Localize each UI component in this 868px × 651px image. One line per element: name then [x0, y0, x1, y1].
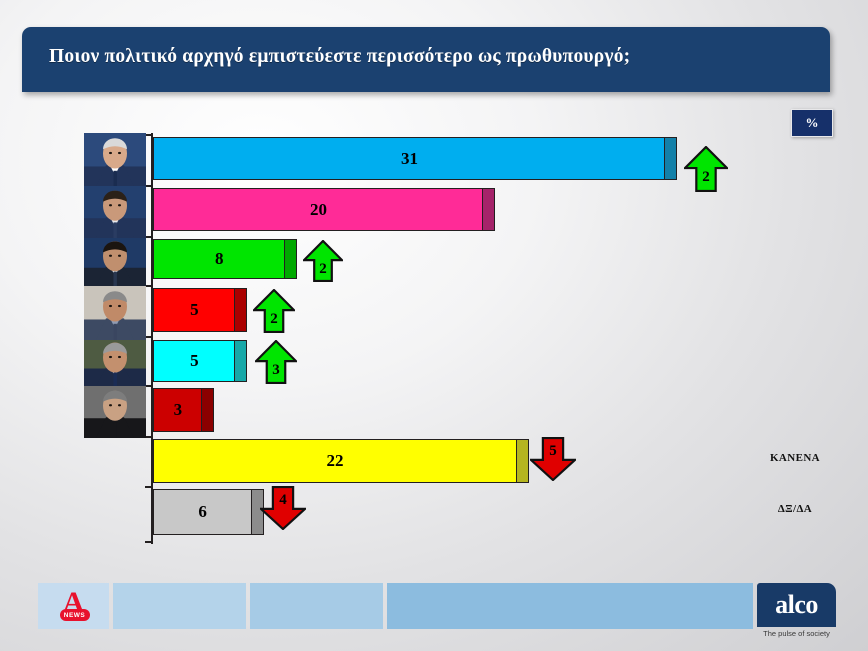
footer-block: [113, 583, 246, 629]
change-value-label: 5: [530, 443, 576, 460]
bar-end-cap: [664, 137, 677, 180]
change-value-label: 3: [255, 362, 297, 379]
bar-row: 8: [153, 239, 298, 279]
change-down-arrow-icon: 4: [260, 486, 306, 530]
bar-value-label: 31: [401, 149, 418, 169]
bar-row: 5: [153, 340, 249, 382]
axis-tick: [145, 541, 152, 543]
politician-portrait: [84, 133, 146, 187]
politician-portrait: [84, 286, 146, 340]
axis-tick: [145, 385, 152, 387]
footer-block: [387, 583, 753, 629]
bar: 31: [153, 137, 666, 180]
anews-badge: NEWS: [60, 609, 90, 621]
bar-row: 20: [153, 188, 497, 231]
bar-row: 22: [153, 439, 530, 483]
change-value-label: 4: [260, 492, 306, 509]
bar: 20: [153, 188, 484, 231]
footer-block: [250, 583, 383, 629]
bar-row: 5: [153, 288, 249, 332]
bar-chart: 31208553226 ΚΑΝΕΝΑΔΞ/ΔΑ 222354: [0, 0, 868, 651]
politician-portrait: [84, 238, 146, 286]
change-value-label: 2: [684, 169, 728, 186]
bar-value-label: 5: [190, 300, 199, 320]
axis-tick: [145, 185, 152, 187]
change-up-arrow-icon: 2: [253, 289, 295, 333]
anews-logo-inner: A NEWS: [57, 589, 91, 623]
axis-tick: [145, 236, 152, 238]
bar-end-cap: [234, 340, 247, 382]
axis-tick: [145, 436, 152, 438]
bar-row: 3: [153, 388, 216, 432]
bar: 3: [153, 388, 203, 432]
bar-value-label: 22: [327, 451, 344, 471]
alco-tagline: The pulse of society: [757, 629, 836, 638]
bar: 6: [153, 489, 252, 535]
change-down-arrow-icon: 5: [530, 437, 576, 481]
bar-end-cap: [482, 188, 495, 231]
category-label: ΚΑΝΕΝΑ: [722, 452, 868, 464]
change-up-arrow-icon: 2: [303, 240, 343, 282]
change-value-label: 2: [253, 311, 295, 328]
axis-tick: [145, 134, 152, 136]
bar: 22: [153, 439, 517, 483]
footer-bar: [0, 583, 868, 629]
change-value-label: 2: [303, 261, 343, 278]
axis-tick: [145, 336, 152, 338]
bar-value-label: 5: [190, 351, 199, 371]
axis-tick: [145, 486, 152, 488]
alco-logo: alco: [757, 583, 836, 627]
bar-end-cap: [284, 239, 297, 279]
bar: 5: [153, 340, 236, 382]
alco-wordmark: alco: [775, 592, 818, 618]
bar-row: 31: [153, 137, 679, 180]
bar: 5: [153, 288, 236, 332]
bar-value-label: 8: [215, 249, 224, 269]
anews-logo: A NEWS: [38, 583, 109, 629]
bar-end-cap: [516, 439, 529, 483]
change-up-arrow-icon: 3: [255, 340, 297, 384]
bar-value-label: 3: [174, 400, 183, 420]
change-up-arrow-icon: 2: [684, 146, 728, 192]
politician-portrait: [84, 386, 146, 438]
bar-value-label: 20: [310, 200, 327, 220]
axis-tick: [145, 285, 152, 287]
category-label: ΔΞ/ΔΑ: [722, 503, 868, 515]
bar: 8: [153, 239, 285, 279]
bar-end-cap: [201, 388, 214, 432]
politician-portrait: [84, 186, 146, 238]
bar-end-cap: [234, 288, 247, 332]
bar-value-label: 6: [198, 502, 207, 522]
politician-portrait: [84, 340, 146, 386]
bar-row: 6: [153, 489, 265, 535]
